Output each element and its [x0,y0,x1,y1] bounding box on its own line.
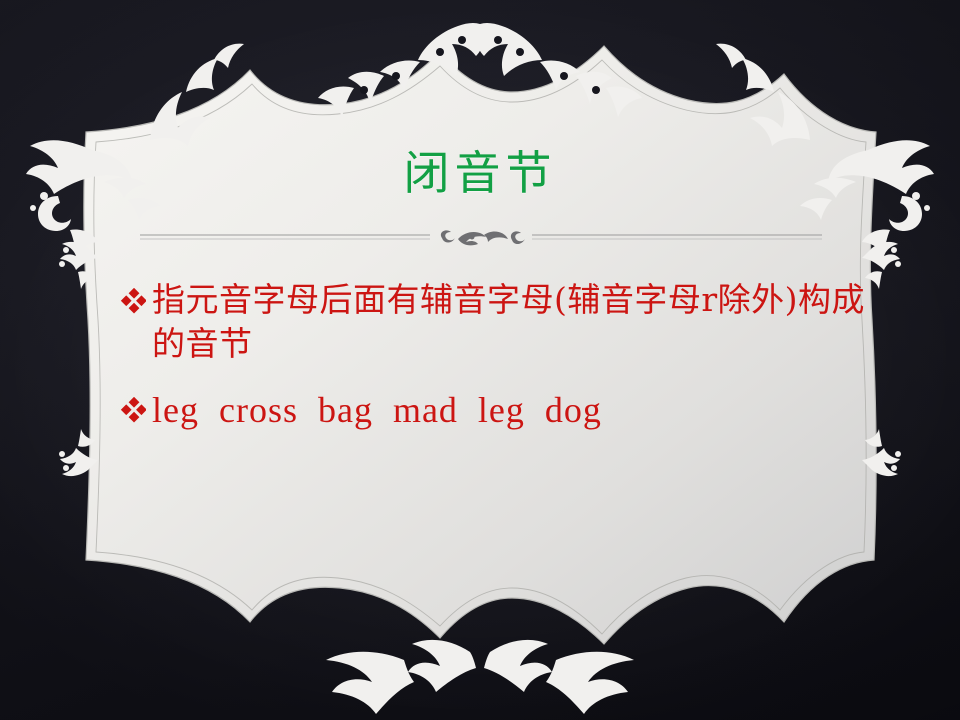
title-divider [140,228,822,252]
presentation-slide: 闭音节 [0,0,960,720]
list-item: 指元音字母后面有辅音字母(辅音字母r除外)构成的音节 [120,278,880,365]
list-item: leg cross bag mad leg dog [120,387,880,436]
list-item-label: 指元音字母后面有辅音字母(辅音字母r除外)构成的音节 [152,278,880,365]
bullet-diamond-cluster-icon [120,392,150,436]
bullet-diamond-cluster-icon [120,283,150,327]
body-text-block: 指元音字母后面有辅音字母(辅音字母r除外)构成的音节 leg cross bag… [120,278,880,436]
list-item-label: leg cross bag mad leg dog [152,387,880,435]
divider-flourish-icon [441,230,525,245]
page-title: 闭音节 [120,148,840,200]
